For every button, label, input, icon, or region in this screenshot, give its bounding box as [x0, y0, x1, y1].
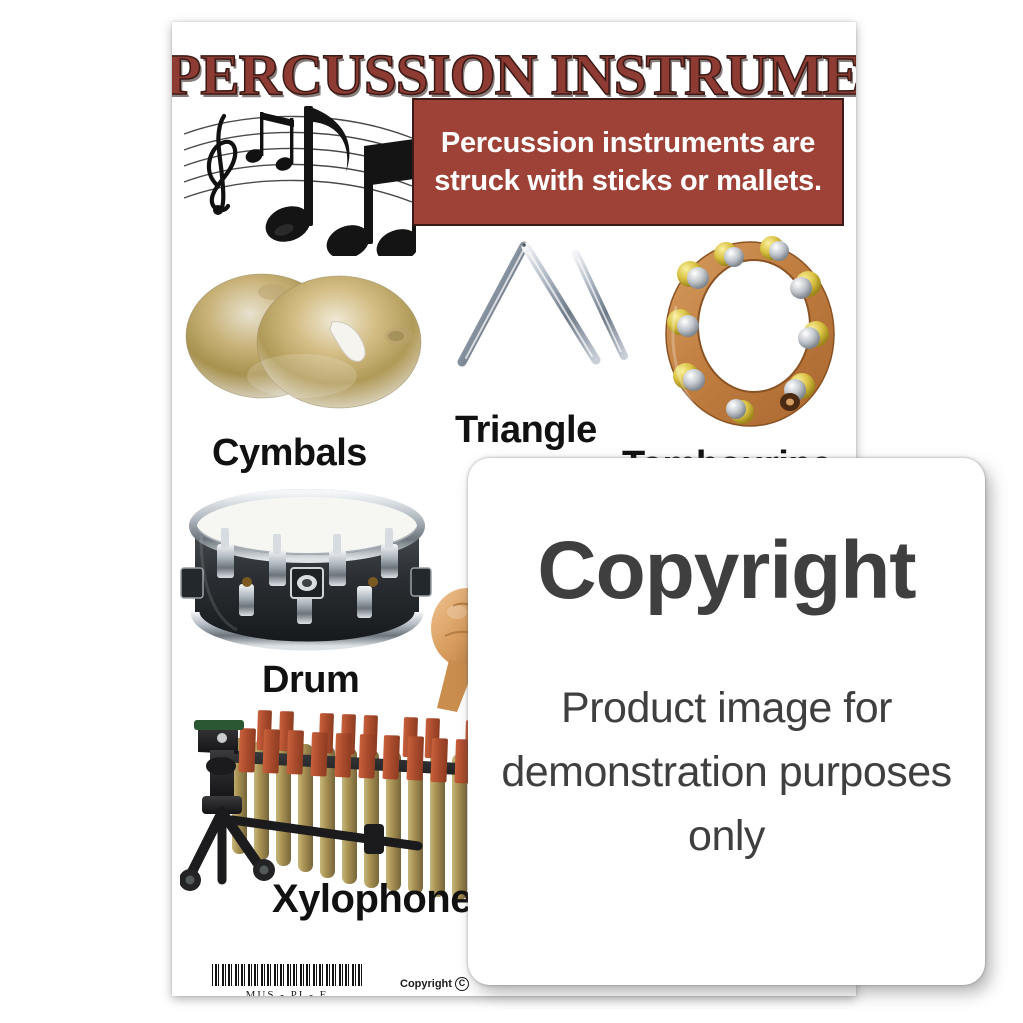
snare-drum-icon [177, 480, 435, 660]
music-notes-icon [180, 94, 416, 256]
footer-copyright-word: Copyright [400, 978, 452, 990]
copyright-symbol-icon: C [455, 977, 469, 991]
statement-text: Percussion instruments are struck with s… [424, 124, 832, 200]
instrument-label-drum: Drum [262, 659, 359, 702]
statement-banner: Percussion instruments are struck with s… [412, 98, 844, 226]
footer-copyright-notice: Copyright C [400, 977, 469, 991]
copyright-subtext: Product image for demonstration purposes… [494, 676, 959, 868]
screenshot-canvas: PERCUSSION INSTRUMENTS [0, 0, 1023, 1023]
copyright-heading: Copyright [537, 528, 915, 614]
instrument-label-cymbals: Cymbals [212, 432, 367, 475]
copyright-overlay-card: Copyright Product image for demonstratio… [468, 458, 985, 985]
tambourine-icon [650, 226, 850, 436]
barcode: MUS - PI - E [212, 964, 362, 996]
instrument-label-triangle: Triangle [455, 409, 597, 452]
instrument-label-xylophone: Xylophone [272, 877, 472, 922]
barcode-icon [212, 964, 362, 986]
cymbals-icon [184, 264, 434, 416]
product-code: MUS - PI - E [212, 989, 362, 996]
triangle-icon [452, 234, 660, 404]
